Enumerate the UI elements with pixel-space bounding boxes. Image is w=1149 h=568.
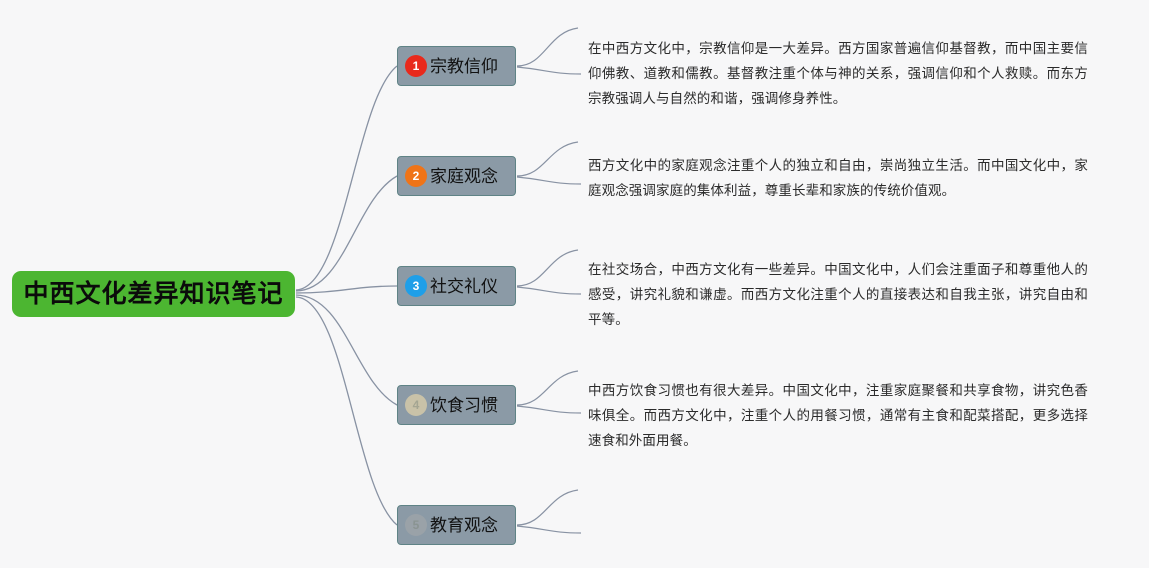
connector-branch-5-to-text-lower [517, 526, 581, 533]
connector-branch-1-to-text-lower [517, 67, 581, 74]
connector-branch-5-to-text-upper [517, 490, 578, 525]
connector-branch-1-to-text-upper [517, 28, 578, 66]
branch-badge-4: 4 [405, 394, 427, 416]
branch-badge-1: 1 [405, 55, 427, 77]
detail-text-1: 在中西方文化中，宗教信仰是一大差异。西方国家普遍信仰基督教，而中国主要信仰佛教、… [588, 36, 1088, 111]
connector-branch-2-to-text-upper [517, 142, 578, 176]
branch-label-3: 社交礼仪 [428, 278, 498, 295]
branch-label-5: 教育观念 [428, 517, 498, 534]
central-node[interactable]: 中西文化差异知识笔记 [12, 271, 295, 317]
connector-branch-4-to-text-lower [517, 406, 581, 413]
central-node-label: 中西文化差异知识笔记 [23, 282, 283, 307]
branch-node-2[interactable]: 2 家庭观念 [397, 156, 516, 196]
connector-center-to-branch-1 [296, 66, 397, 290]
connector-center-to-branch-2 [296, 176, 397, 291]
branch-label-1: 宗教信仰 [428, 58, 498, 75]
branch-badge-3: 3 [405, 275, 427, 297]
branch-label-4: 饮食习惯 [428, 397, 498, 414]
connector-branch-3-to-text-upper [517, 250, 578, 286]
connector-center-to-branch-4 [296, 295, 397, 405]
connector-center-to-branch-3 [296, 286, 397, 293]
connector-branch-3-to-text-lower [517, 287, 581, 294]
branch-node-3[interactable]: 3 社交礼仪 [397, 266, 516, 306]
branch-node-1[interactable]: 1 宗教信仰 [397, 46, 516, 86]
detail-text-3: 在社交场合，中西方文化有一些差异。中国文化中，人们会注重面子和尊重他人的感受，讲… [588, 257, 1088, 332]
detail-text-4: 中西方饮食习惯也有很大差异。中国文化中，注重家庭聚餐和共享食物，讲究色香味俱全。… [588, 378, 1088, 453]
branch-node-5[interactable]: 5 教育观念 [397, 505, 516, 545]
branch-label-2: 家庭观念 [428, 168, 498, 185]
mindmap-canvas: 中西文化差异知识笔记 1 宗教信仰 在中西方文化中，宗教信仰是一大差异。西方国家… [0, 0, 1149, 568]
branch-badge-2: 2 [405, 165, 427, 187]
branch-node-4[interactable]: 4 饮食习惯 [397, 385, 516, 425]
detail-text-2: 西方文化中的家庭观念注重个人的独立和自由，崇尚独立生活。而中国文化中，家庭观念强… [588, 153, 1088, 203]
connector-branch-4-to-text-upper [517, 371, 578, 405]
branch-badge-5: 5 [405, 514, 427, 536]
connector-center-to-branch-5 [296, 297, 397, 525]
connector-branch-2-to-text-lower [517, 177, 581, 184]
